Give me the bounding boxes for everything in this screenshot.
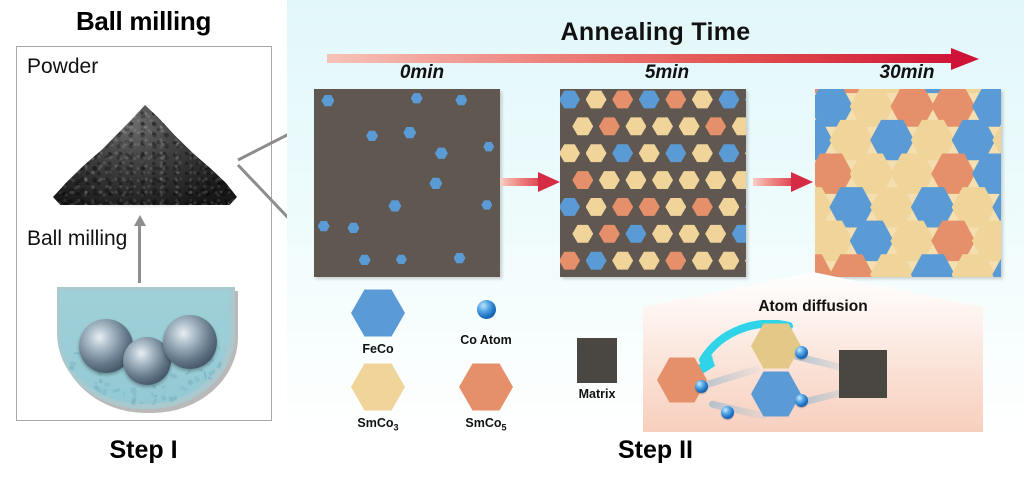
- smco3-hexagon-icon: [679, 224, 700, 243]
- feco-hexagon-icon: [665, 144, 686, 163]
- smco3-hexagon-icon: [692, 251, 713, 270]
- feco-hexagon-icon: [751, 370, 801, 418]
- smco3-hexagon-icon: [560, 144, 580, 163]
- feco-hexagon-icon: [718, 144, 739, 163]
- microstructure-panel-30min: [815, 89, 1001, 277]
- smco3-hexagon-icon: [572, 117, 593, 136]
- step-one-label: Step I: [0, 436, 287, 465]
- feco-hexagon-icon: [321, 95, 334, 107]
- smco3-hexagon-icon: [612, 251, 633, 270]
- powder-label: Powder: [27, 55, 98, 79]
- smco5-hexagon-icon: [612, 197, 633, 216]
- feco-hexagon-icon: [359, 254, 371, 265]
- legend-item-smco5: SmCo5: [441, 362, 531, 433]
- smco3-hexagon-icon: [351, 362, 405, 412]
- feco-hexagon-icon: [560, 90, 580, 109]
- smco3-hexagon-icon: [599, 171, 620, 190]
- smco5-hexagon-icon: [599, 224, 620, 243]
- matrix-square-icon: [577, 338, 617, 383]
- legend-label-smco5: SmCo5: [441, 416, 531, 433]
- ball-milling-illustration-box: Powder Ball milling: [16, 46, 272, 421]
- smco5-hexagon-icon: [612, 90, 633, 109]
- smco5-hexagon-icon: [639, 197, 660, 216]
- ball-milling-up-arrow-icon: [132, 215, 146, 283]
- time-label-0min: 0min: [342, 62, 502, 84]
- feco-hexagon-icon: [454, 253, 466, 264]
- figure-root: Ball milling Powder Ball milling St: [0, 0, 1024, 479]
- smco3-hexagon-icon: [732, 117, 746, 136]
- smco3-hexagon-icon: [572, 224, 593, 243]
- smco3-hexagon-icon: [751, 322, 801, 370]
- smco3-hexagon-icon: [692, 90, 713, 109]
- feco-hexagon-icon: [318, 221, 330, 232]
- smco5-hexagon-icon: [572, 171, 593, 190]
- feco-hexagon-icon: [639, 90, 660, 109]
- legend-item-feco: FeCo: [333, 288, 423, 356]
- feco-hexagon-icon: [388, 200, 401, 212]
- feco-hexagon-icon: [612, 144, 633, 163]
- step-two-panel: Annealing Time 0min 5min 30min FeCo: [287, 0, 1024, 436]
- feco-hexagon-icon: [992, 253, 1001, 277]
- legend-label-co-atom: Co Atom: [441, 333, 531, 347]
- smco3-hexagon-icon: [745, 144, 746, 163]
- feco-hexagon-icon: [718, 90, 739, 109]
- feco-hexagon-icon: [411, 93, 423, 104]
- feco-hexagon-icon: [745, 197, 746, 216]
- feco-hexagon-icon: [586, 251, 607, 270]
- feco-hexagon-icon: [455, 95, 467, 106]
- microstructure-panel-0min: [314, 89, 500, 277]
- smco3-hexagon-icon: [745, 251, 746, 270]
- ball-mill-jar: [57, 287, 235, 409]
- microstructure-panel-5min: [560, 89, 746, 277]
- feco-hexagon-icon: [396, 254, 407, 264]
- smco3-hexagon-icon: [692, 144, 713, 163]
- ball-milling-label: Ball milling: [27, 227, 127, 251]
- smco3-hexagon-icon: [625, 171, 646, 190]
- co-atom-sphere-icon: [721, 406, 734, 419]
- smco3-hexagon-icon: [586, 90, 607, 109]
- feco-hexagon-icon: [351, 288, 405, 338]
- feco-hexagon-icon: [429, 177, 442, 189]
- smco3-hexagon-icon: [652, 171, 673, 190]
- smco3-hexagon-icon: [639, 251, 660, 270]
- transition-arrow-5-to-30-icon: [753, 172, 813, 192]
- smco5-hexagon-icon: [560, 251, 580, 270]
- feco-hexagon-icon: [481, 200, 492, 210]
- smco3-hexagon-icon: [586, 197, 607, 216]
- smco5-hexagon-icon: [599, 117, 620, 136]
- smco3-hexagon-icon: [625, 117, 646, 136]
- co-atom-sphere-icon: [477, 300, 496, 319]
- feco-hexagon-icon: [483, 142, 494, 152]
- co-atom-sphere-icon: [695, 380, 708, 393]
- annealing-time-title: Annealing Time: [287, 18, 1024, 47]
- legend-item-co-atom: Co Atom: [441, 300, 531, 347]
- smco3-hexagon-icon: [718, 251, 739, 270]
- powder-heap-texture: [53, 105, 237, 205]
- smco3-hexagon-icon: [639, 144, 660, 163]
- legend-label-smco3: SmCo3: [333, 416, 423, 433]
- smco3-hexagon-icon: [679, 117, 700, 136]
- time-label-5min: 5min: [587, 62, 747, 84]
- co-atom-sphere-icon: [795, 346, 808, 359]
- smco3-hexagon-icon: [679, 171, 700, 190]
- legend-label-feco: FeCo: [333, 342, 423, 356]
- ball-milling-title: Ball milling: [0, 6, 287, 37]
- step-one-panel: Ball milling Powder Ball milling St: [0, 0, 287, 479]
- feco-hexagon-icon: [625, 224, 646, 243]
- legend-label-matrix: Matrix: [557, 387, 637, 401]
- smco5-hexagon-icon: [665, 251, 686, 270]
- feco-hexagon-icon: [732, 224, 746, 243]
- time-label-30min: 30min: [827, 62, 987, 84]
- smco5-hexagon-icon: [459, 362, 513, 412]
- feco-hexagon-icon: [745, 90, 746, 109]
- legend: FeCo Co Atom SmCo3 SmCo5 Matrix: [317, 288, 647, 428]
- feco-hexagon-icon: [403, 127, 416, 139]
- smco3-hexagon-icon: [652, 224, 673, 243]
- step-two-label: Step II: [287, 436, 1024, 465]
- smco3-hexagon-icon: [705, 171, 726, 190]
- feco-hexagon-icon: [560, 197, 580, 216]
- smco5-hexagon-icon: [705, 117, 726, 136]
- matrix-square-icon: [839, 350, 887, 398]
- smco5-hexagon-icon: [665, 90, 686, 109]
- smco3-hexagon-icon: [652, 117, 673, 136]
- co-atom-sphere-icon: [795, 394, 808, 407]
- smco3-hexagon-icon: [665, 197, 686, 216]
- smco3-hexagon-icon: [732, 171, 746, 190]
- milling-ball: [163, 315, 217, 369]
- smco5-hexagon-icon: [692, 197, 713, 216]
- feco-hexagon-icon: [435, 147, 448, 159]
- transition-arrow-0-to-5-icon: [500, 172, 560, 192]
- feco-hexagon-icon: [366, 130, 378, 141]
- atom-diffusion-inset: Atom diffusion: [643, 272, 983, 432]
- legend-item-matrix: Matrix: [557, 338, 637, 401]
- atom-diffusion-title: Atom diffusion: [643, 298, 983, 316]
- smco3-hexagon-icon: [705, 224, 726, 243]
- smco3-hexagon-icon: [718, 197, 739, 216]
- powder-heap-image: [47, 99, 243, 211]
- feco-hexagon-icon: [347, 222, 359, 233]
- legend-item-smco3: SmCo3: [333, 362, 423, 433]
- smco3-hexagon-icon: [586, 144, 607, 163]
